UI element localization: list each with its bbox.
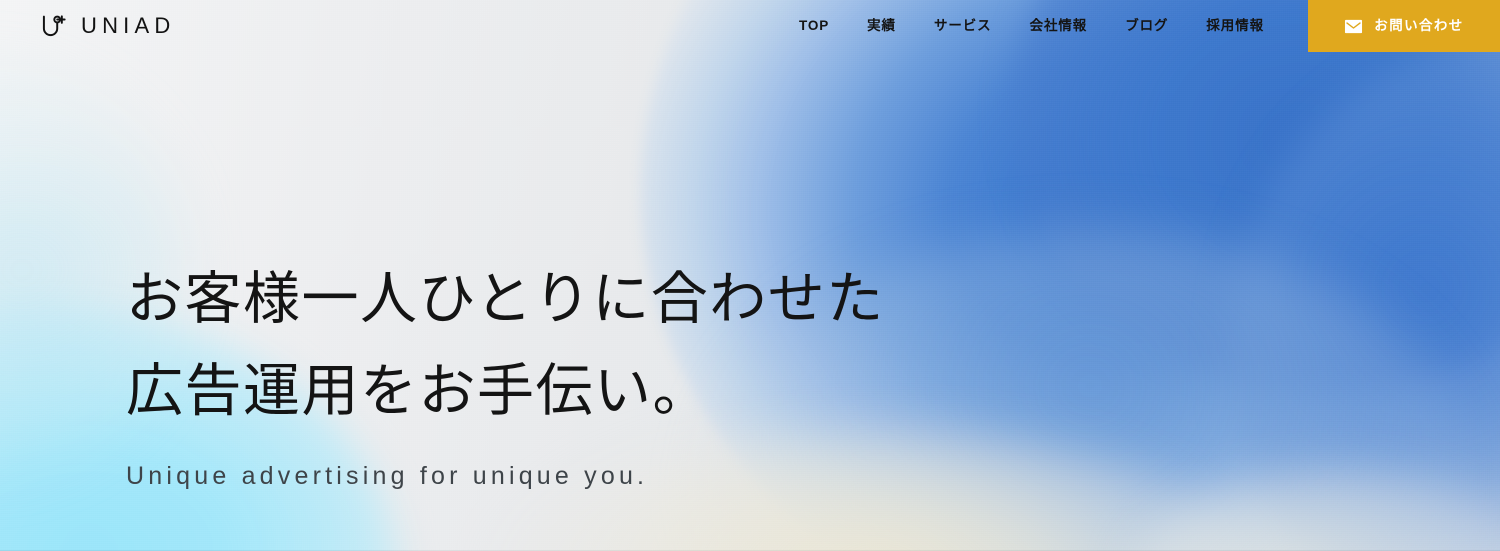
- hero-headline-line-2: 広告運用をお手伝い。: [126, 346, 885, 438]
- site-header: UNIAD TOP 実績 サービス 会社情報 ブログ 採用情報 お問い合わせ: [0, 0, 1500, 52]
- nav-item-company[interactable]: 会社情報: [1030, 19, 1088, 33]
- nav-item-top[interactable]: TOP: [799, 19, 829, 33]
- hero-copy-block: お客様一人ひとりに合わせた 広告運用をお手伝い。 Unique advertis…: [126, 254, 885, 491]
- brand-name-text: UNIAD: [81, 15, 175, 37]
- nav-item-blog[interactable]: ブログ: [1125, 19, 1168, 33]
- nav-item-works[interactable]: 実績: [867, 19, 896, 33]
- hero-section: UNIAD TOP 実績 サービス 会社情報 ブログ 採用情報 お問い合わせ お…: [0, 0, 1500, 551]
- hero-headline-line-1: お客様一人ひとりに合わせた: [126, 254, 885, 346]
- hero-subcopy: Unique advertising for unique you.: [126, 461, 885, 491]
- brand-logo-link[interactable]: UNIAD: [0, 0, 175, 52]
- mail-envelope-icon: [1344, 19, 1363, 34]
- nav-item-recruit[interactable]: 採用情報: [1206, 19, 1264, 33]
- contact-button[interactable]: お問い合わせ: [1308, 0, 1500, 52]
- contact-button-label: お問い合わせ: [1374, 19, 1463, 33]
- main-navigation: TOP 実績 サービス 会社情報 ブログ 採用情報: [175, 0, 1308, 52]
- nav-item-service[interactable]: サービス: [934, 19, 992, 33]
- uniad-logo-mark-icon: [38, 11, 68, 41]
